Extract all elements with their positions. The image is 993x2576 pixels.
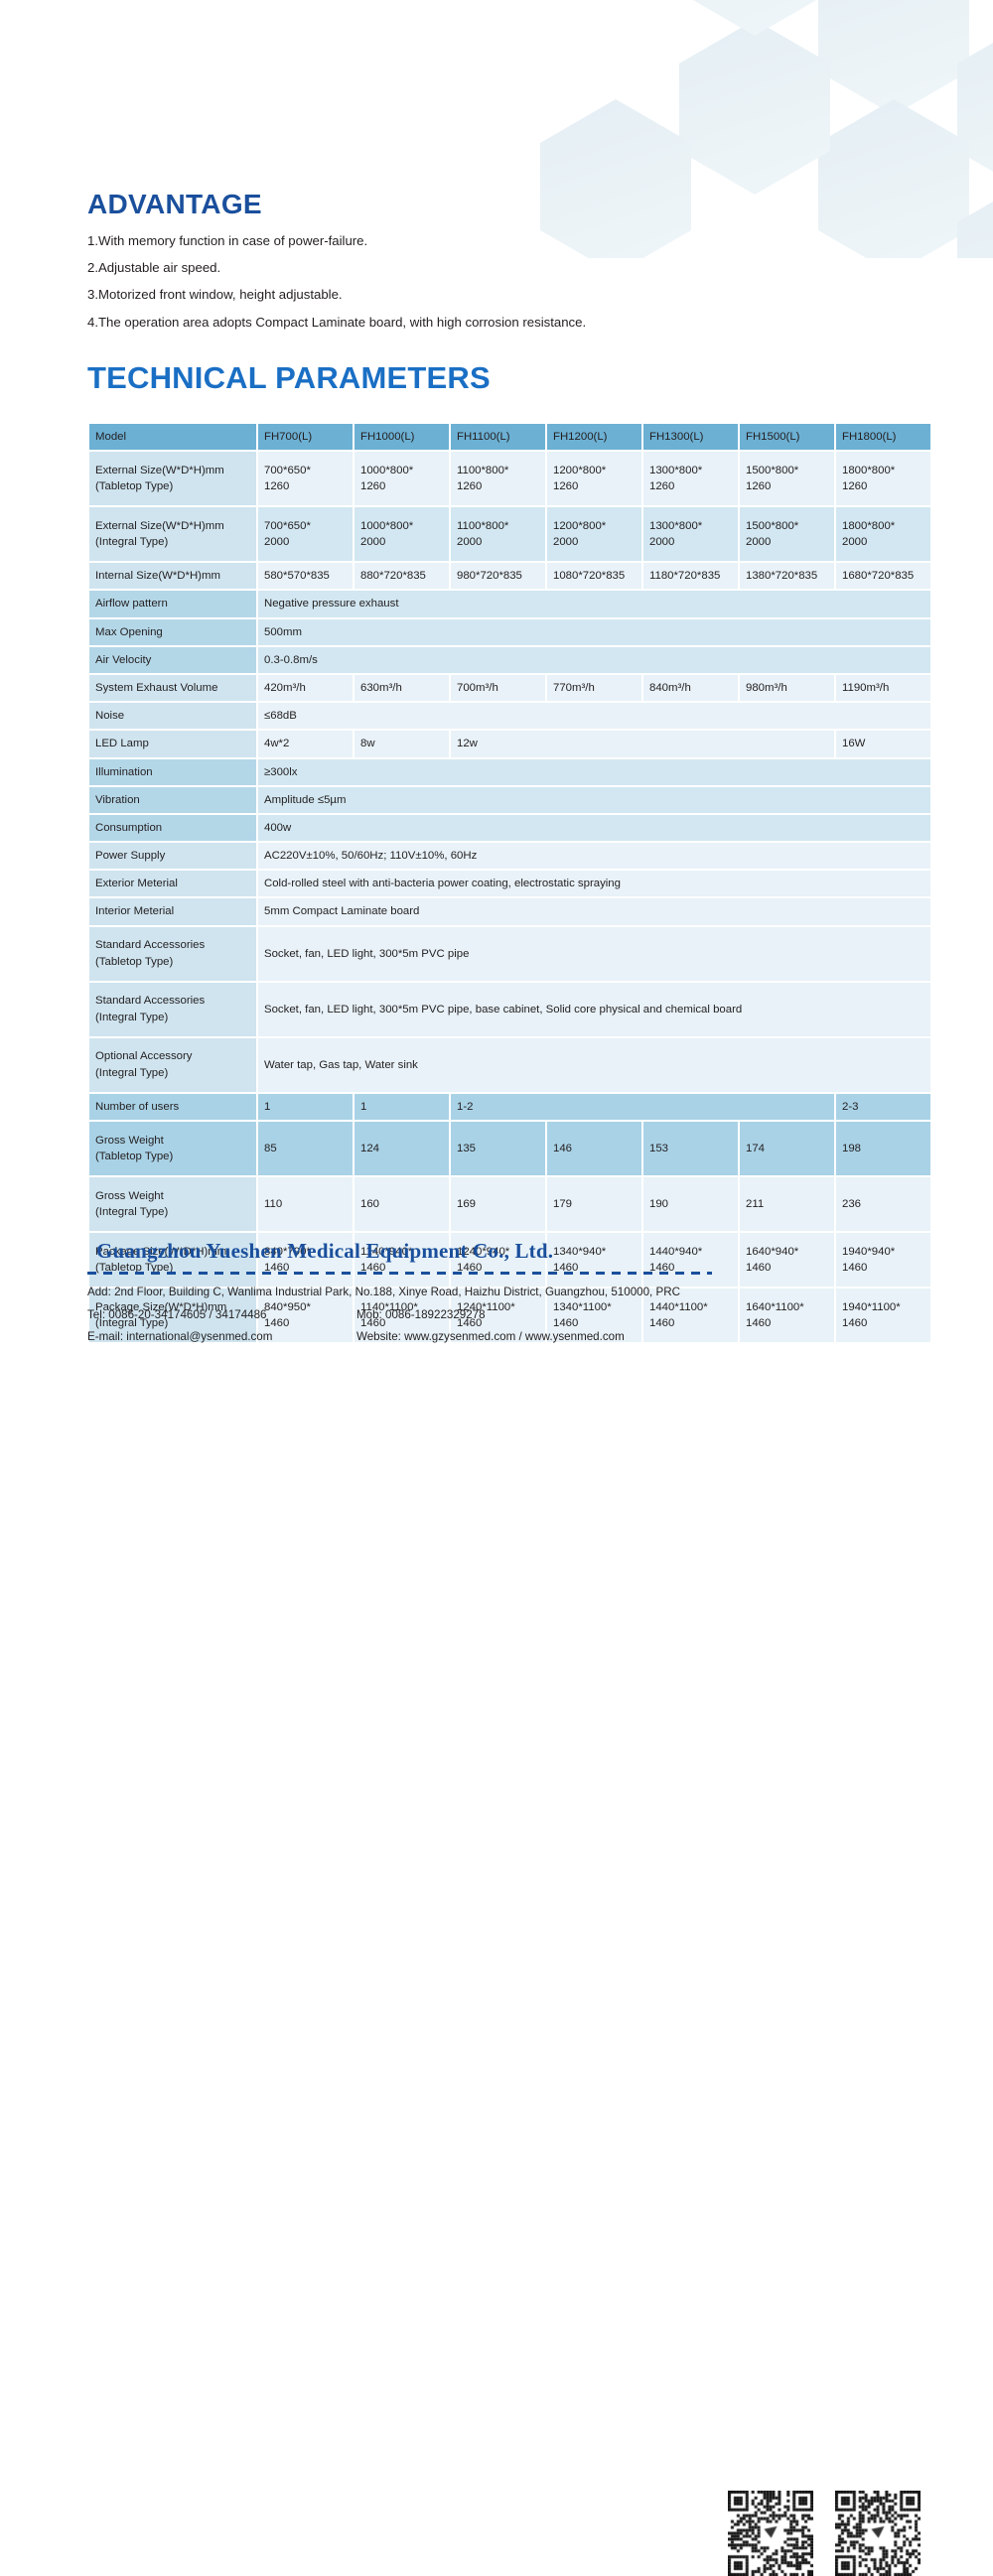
column-header-FH1800(L): FH1800(L) bbox=[836, 424, 930, 450]
table-row: Exterior MeterialCold-rolled steel with … bbox=[89, 871, 930, 896]
table-row: Air Velocity0.3-0.8m/s bbox=[89, 647, 930, 673]
row-value: 700m³/h bbox=[451, 675, 545, 701]
contact-email[interactable]: E-mail: international@ysenmed.com bbox=[87, 1326, 356, 1349]
contact-tel: Tel: 0086-20-34174605 / 34174486 bbox=[87, 1304, 356, 1327]
row-value: 880*720*835 bbox=[355, 563, 449, 589]
users-value-2: 1 bbox=[355, 1094, 449, 1120]
row-value: 135 bbox=[451, 1122, 545, 1175]
row-label: Gross Weight(Integral Type) bbox=[89, 1177, 256, 1231]
table-row: Consumption400w bbox=[89, 815, 930, 841]
row-value: 1000*800*1260 bbox=[355, 452, 449, 505]
page-footer: Guangzhou Yueshen Medical Equipment Co.,… bbox=[0, 1234, 993, 1356]
row-label: Illumination bbox=[89, 759, 256, 785]
row-value: 169 bbox=[451, 1177, 545, 1231]
advantage-heading: ADVANTAGE bbox=[87, 191, 912, 218]
row-label: LED Lamp bbox=[89, 731, 256, 756]
row-value: 1200*800*2000 bbox=[547, 507, 641, 561]
table-row: Internal Size(W*D*H)mm580*570*835880*720… bbox=[89, 563, 930, 589]
row-value-span: 400w bbox=[258, 815, 930, 841]
row-value-span: Socket, fan, LED light, 300*5m PVC pipe bbox=[258, 927, 930, 981]
row-value-span: Amplitude ≤5µm bbox=[258, 787, 930, 813]
contact-mobile: Mob: 0086-18922329278 bbox=[356, 1304, 486, 1327]
advantage-item: 1.With memory function in case of power-… bbox=[87, 234, 912, 247]
users-value-4: 2-3 bbox=[836, 1094, 930, 1120]
row-label: Consumption bbox=[89, 815, 256, 841]
column-header-FH1100(L): FH1100(L) bbox=[451, 424, 545, 450]
row-value: 146 bbox=[547, 1122, 641, 1175]
advantage-item: 2.Adjustable air speed. bbox=[87, 261, 912, 274]
contact-address: Add: 2nd Floor, Building C, Wanlima Indu… bbox=[87, 1282, 733, 1304]
contact-website[interactable]: Website: www.gzysenmed.com / www.ysenmed… bbox=[356, 1326, 625, 1349]
row-label: Standard Accessories(Integral Type) bbox=[89, 983, 256, 1036]
row-label: Airflow pattern bbox=[89, 591, 256, 616]
row-value: 840m³/h bbox=[643, 675, 738, 701]
row-value: 110 bbox=[258, 1177, 353, 1231]
row-value: 153 bbox=[643, 1122, 738, 1175]
row-label: External Size(W*D*H)mm(Integral Type) bbox=[89, 507, 256, 561]
table-row: Optional Accessory(Integral Type)Water t… bbox=[89, 1038, 930, 1092]
row-label: Standard Accessories(Tabletop Type) bbox=[89, 927, 256, 981]
table-row: Power SupplyAC220V±10%, 50/60Hz; 110V±10… bbox=[89, 843, 930, 869]
row-value: 1800*800*1260 bbox=[836, 452, 930, 505]
row-label: Gross Weight(Tabletop Type) bbox=[89, 1122, 256, 1175]
row-value: 174 bbox=[740, 1122, 834, 1175]
row-value: 1500*800*2000 bbox=[740, 507, 834, 561]
table-row: LED Lamp4w*28w12w16W bbox=[89, 731, 930, 756]
technical-parameters-table-wrap: ModelFH700(L)FH1000(L)FH1100(L)FH1200(L)… bbox=[87, 422, 924, 1344]
row-value-span: Negative pressure exhaust bbox=[258, 591, 930, 616]
row-value: 160 bbox=[355, 1177, 449, 1231]
qr-code-website[interactable] bbox=[835, 2491, 921, 2576]
table-row: Airflow patternNegative pressure exhaust bbox=[89, 591, 930, 616]
row-value-span: Socket, fan, LED light, 300*5m PVC pipe,… bbox=[258, 983, 930, 1036]
row-label: External Size(W*D*H)mm(Tabletop Type) bbox=[89, 452, 256, 505]
row-value: 211 bbox=[740, 1177, 834, 1231]
row-value: 1100*800*2000 bbox=[451, 507, 545, 561]
advantage-section: ADVANTAGE 1.With memory function in case… bbox=[87, 191, 912, 342]
row-value-span: AC220V±10%, 50/60Hz; 110V±10%, 60Hz bbox=[258, 843, 930, 869]
table-row: External Size(W*D*H)mm(Tabletop Type)700… bbox=[89, 452, 930, 505]
row-value: 236 bbox=[836, 1177, 930, 1231]
row-value: 980m³/h bbox=[740, 675, 834, 701]
row-value: 700*650*1260 bbox=[258, 452, 353, 505]
table-row: Standard Accessories(Integral Type)Socke… bbox=[89, 983, 930, 1036]
row-value: 700*650*2000 bbox=[258, 507, 353, 561]
company-name: Guangzhou Yueshen Medical Equipment Co.,… bbox=[96, 1239, 553, 1264]
row-value: 1200*800*1260 bbox=[547, 452, 641, 505]
column-header-FH700(L): FH700(L) bbox=[258, 424, 353, 450]
row-value: 1100*800*1260 bbox=[451, 452, 545, 505]
qr-code-group bbox=[728, 2491, 924, 2576]
column-header-FH1300(L): FH1300(L) bbox=[643, 424, 738, 450]
led-value-1: 4w*2 bbox=[258, 731, 353, 756]
row-value: 190 bbox=[643, 1177, 738, 1231]
table-row: Interior Meterial5mm Compact Laminate bo… bbox=[89, 898, 930, 924]
table-row: System Exhaust Volume420m³/h630m³/h700m³… bbox=[89, 675, 930, 701]
column-header-FH1200(L): FH1200(L) bbox=[547, 424, 641, 450]
led-value-4: 16W bbox=[836, 731, 930, 756]
users-value-1: 1 bbox=[258, 1094, 353, 1120]
advantage-list: 1.With memory function in case of power-… bbox=[87, 234, 912, 329]
row-label: Interior Meterial bbox=[89, 898, 256, 924]
advantage-item: 4.The operation area adopts Compact Lami… bbox=[87, 316, 912, 329]
table-row: Gross Weight(Integral Type)1101601691791… bbox=[89, 1177, 930, 1231]
row-value: 580*570*835 bbox=[258, 563, 353, 589]
row-label: Air Velocity bbox=[89, 647, 256, 673]
row-value: 1080*720*835 bbox=[547, 563, 641, 589]
row-value: 1380*720*835 bbox=[740, 563, 834, 589]
contact-block: Add: 2nd Floor, Building C, Wanlima Indu… bbox=[87, 1282, 733, 1349]
footer-divider bbox=[87, 1272, 712, 1275]
table-header-row: ModelFH700(L)FH1000(L)FH1100(L)FH1200(L)… bbox=[89, 424, 930, 450]
table-row: Gross Weight(Tabletop Type)8512413514615… bbox=[89, 1122, 930, 1175]
row-label: Vibration bbox=[89, 787, 256, 813]
column-header-model: Model bbox=[89, 424, 256, 450]
row-value: 179 bbox=[547, 1177, 641, 1231]
table-row: Noise≤68dB bbox=[89, 703, 930, 729]
row-label: Max Opening bbox=[89, 619, 256, 645]
table-row: VibrationAmplitude ≤5µm bbox=[89, 787, 930, 813]
column-header-FH1000(L): FH1000(L) bbox=[355, 424, 449, 450]
row-value-span: Water tap, Gas tap, Water sink bbox=[258, 1038, 930, 1092]
qr-code-wechat[interactable] bbox=[728, 2491, 813, 2576]
row-value: 1300*800*2000 bbox=[643, 507, 738, 561]
row-value: 1680*720*835 bbox=[836, 563, 930, 589]
users-value-3: 1-2 bbox=[451, 1094, 834, 1120]
row-value: 1000*800*2000 bbox=[355, 507, 449, 561]
row-label: Noise bbox=[89, 703, 256, 729]
row-label: Power Supply bbox=[89, 843, 256, 869]
advantage-item: 3.Motorized front window, height adjusta… bbox=[87, 288, 912, 301]
row-value: 1180*720*835 bbox=[643, 563, 738, 589]
row-value-span: 5mm Compact Laminate board bbox=[258, 898, 930, 924]
row-value-span: 500mm bbox=[258, 619, 930, 645]
table-row: Illumination≥300lx bbox=[89, 759, 930, 785]
row-value: 124 bbox=[355, 1122, 449, 1175]
row-value: 770m³/h bbox=[547, 675, 641, 701]
row-value: 1800*800*2000 bbox=[836, 507, 930, 561]
row-value: 85 bbox=[258, 1122, 353, 1175]
row-value: 630m³/h bbox=[355, 675, 449, 701]
led-value-2: 8w bbox=[355, 731, 449, 756]
row-value: 1190m³/h bbox=[836, 675, 930, 701]
row-value: 980*720*835 bbox=[451, 563, 545, 589]
technical-parameters-table: ModelFH700(L)FH1000(L)FH1100(L)FH1200(L)… bbox=[87, 422, 932, 1344]
row-value: 420m³/h bbox=[258, 675, 353, 701]
row-label: Number of users bbox=[89, 1094, 256, 1120]
row-label: Internal Size(W*D*H)mm bbox=[89, 563, 256, 589]
row-value-span: Cold-rolled steel with anti-bacteria pow… bbox=[258, 871, 930, 896]
table-row: External Size(W*D*H)mm(Integral Type)700… bbox=[89, 507, 930, 561]
table-row: Standard Accessories(Tabletop Type)Socke… bbox=[89, 927, 930, 981]
led-value-3: 12w bbox=[451, 731, 834, 756]
column-header-FH1500(L): FH1500(L) bbox=[740, 424, 834, 450]
row-value: 1500*800*1260 bbox=[740, 452, 834, 505]
row-label: Optional Accessory(Integral Type) bbox=[89, 1038, 256, 1092]
row-value-span: ≥300lx bbox=[258, 759, 930, 785]
row-value-span: ≤68dB bbox=[258, 703, 930, 729]
technical-parameters-heading: TECHNICAL PARAMETERS bbox=[87, 362, 491, 393]
table-row: Number of users111-22-3 bbox=[89, 1094, 930, 1120]
table-row: Max Opening500mm bbox=[89, 619, 930, 645]
row-value: 1300*800*1260 bbox=[643, 452, 738, 505]
row-label: Exterior Meterial bbox=[89, 871, 256, 896]
row-value-span: 0.3-0.8m/s bbox=[258, 647, 930, 673]
row-label: System Exhaust Volume bbox=[89, 675, 256, 701]
row-value: 198 bbox=[836, 1122, 930, 1175]
